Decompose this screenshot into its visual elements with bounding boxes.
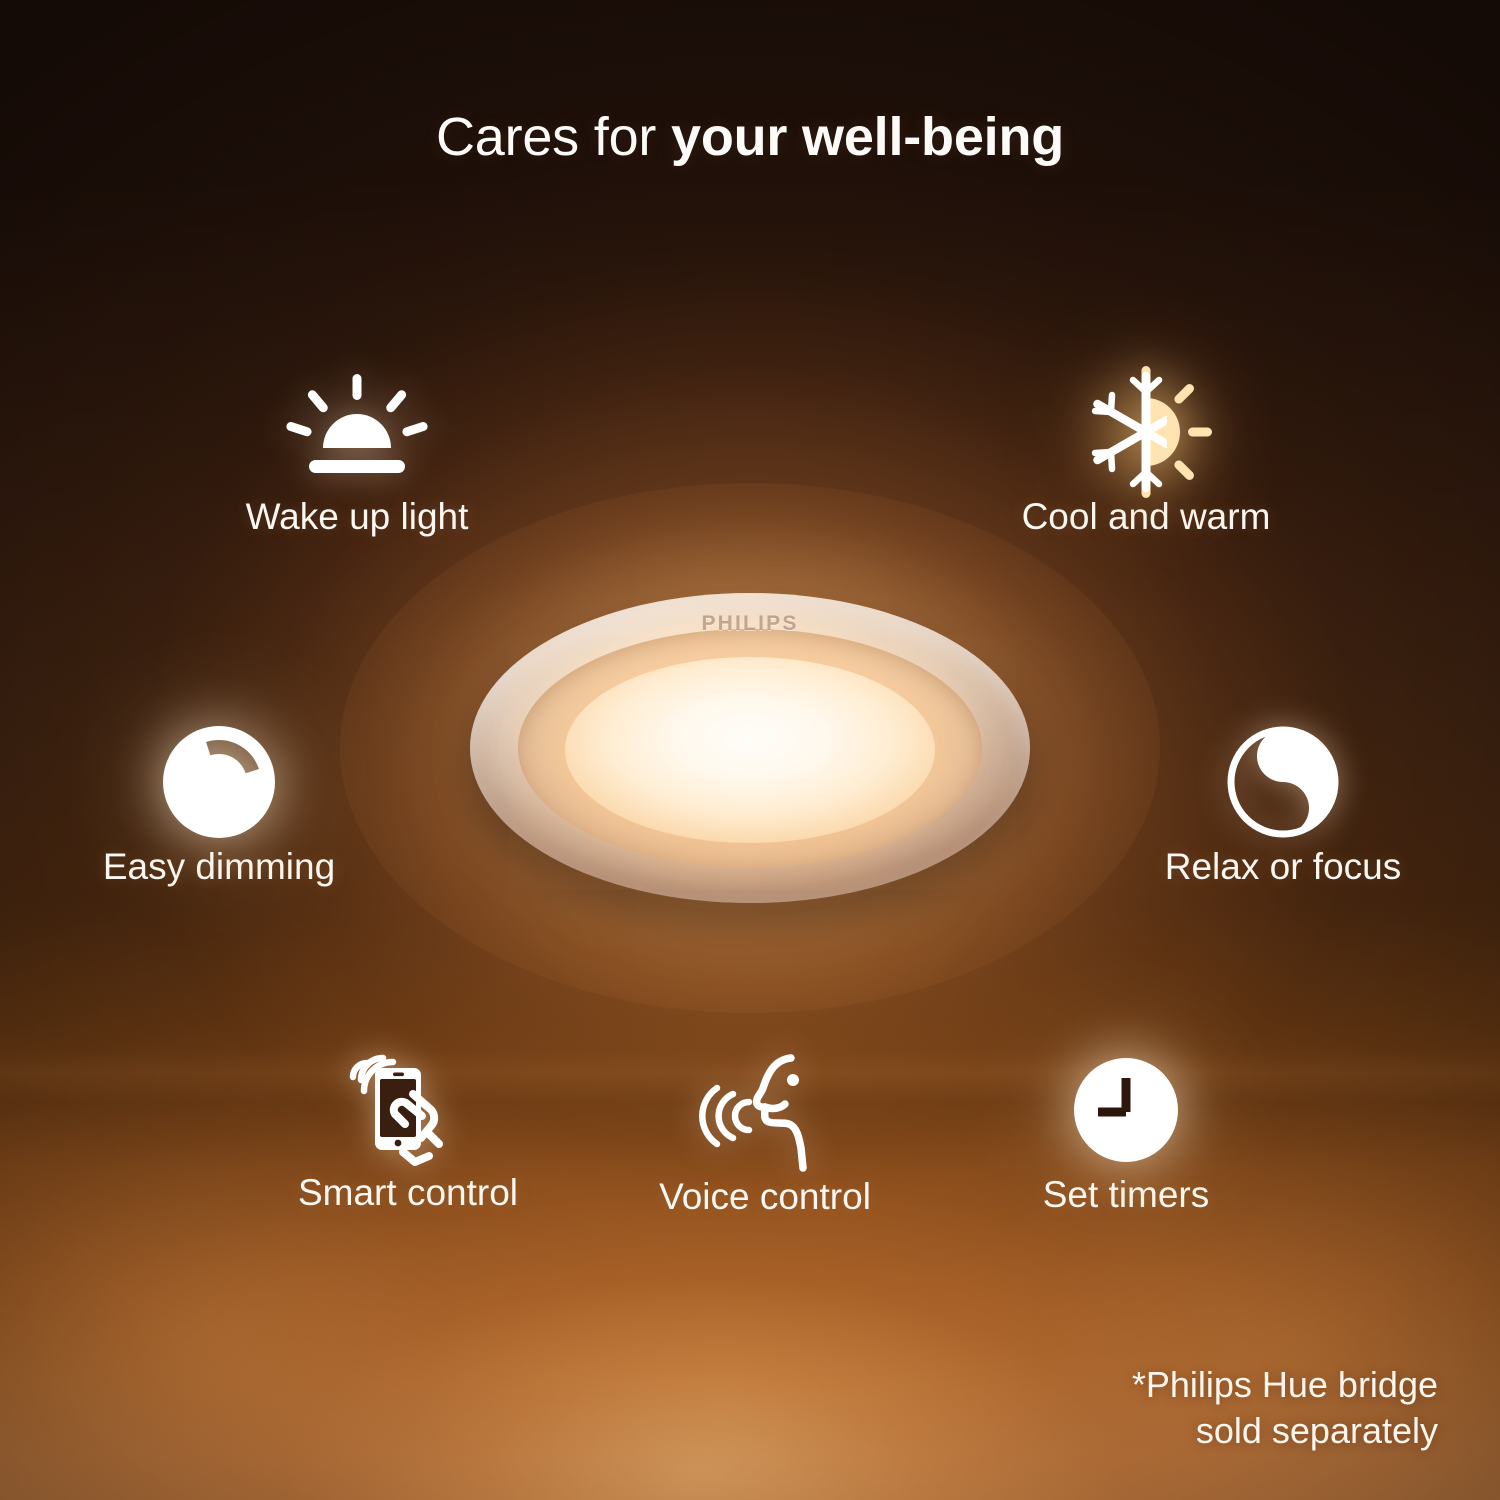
voice-face-waves-icon — [699, 1052, 831, 1172]
feature-icon-wrap — [197, 372, 517, 492]
feature-label: Smart control — [248, 1174, 568, 1213]
page-title-regular: Cares for — [436, 107, 671, 167]
feature-label: Easy dimming — [59, 848, 379, 887]
feature-icon-wrap — [986, 372, 1306, 492]
feature-icon-wrap — [59, 722, 379, 842]
philips-wordmark: PHILIPS — [470, 612, 1030, 636]
feature-label: Wake up light — [197, 498, 517, 537]
product-diffuser — [565, 657, 935, 843]
feature-label: Cool and warm — [986, 498, 1306, 537]
product-bezel: PHILIPS — [470, 593, 1030, 903]
feature-set-timers: Set timers — [966, 1050, 1286, 1215]
feature-label: Set timers — [966, 1176, 1286, 1215]
feature-cool-and-warm: Cool and warm — [986, 372, 1306, 537]
feature-label: Relax or focus — [1123, 848, 1443, 887]
feature-voice-control: Voice control — [605, 1052, 925, 1217]
footnote-line-2: sold separately — [1132, 1408, 1438, 1454]
footnote: *Philips Hue bridge sold separately — [1132, 1362, 1438, 1454]
dimmer-dial-icon — [159, 722, 279, 842]
clock-icon — [1070, 1054, 1182, 1166]
product-downlight: PHILIPS — [470, 593, 1030, 903]
feature-easy-dimming: Easy dimming — [59, 722, 379, 887]
promo-image: Cares for your well-being PHILIPS — [0, 0, 1500, 1500]
smartphone-hand-wifi-icon — [343, 1046, 473, 1170]
feature-icon-wrap — [605, 1052, 925, 1172]
feature-relax-or-focus: Relax or focus — [1123, 722, 1443, 887]
feature-icon-wrap — [966, 1050, 1286, 1170]
page-title-bold: your well-being — [671, 107, 1064, 167]
page-title: Cares for your well-being — [0, 108, 1500, 167]
footnote-line-1: *Philips Hue bridge — [1132, 1362, 1438, 1408]
feature-icon-wrap — [248, 1048, 568, 1168]
feature-icon-wrap — [1123, 722, 1443, 842]
feature-label: Voice control — [605, 1178, 925, 1217]
sunrise-icon — [277, 372, 437, 492]
feature-smart-control: Smart control — [248, 1048, 568, 1213]
feature-wake-up-light: Wake up light — [197, 372, 517, 537]
yin-yang-icon — [1224, 723, 1342, 841]
snowflake-sun-split-icon — [1071, 364, 1221, 500]
